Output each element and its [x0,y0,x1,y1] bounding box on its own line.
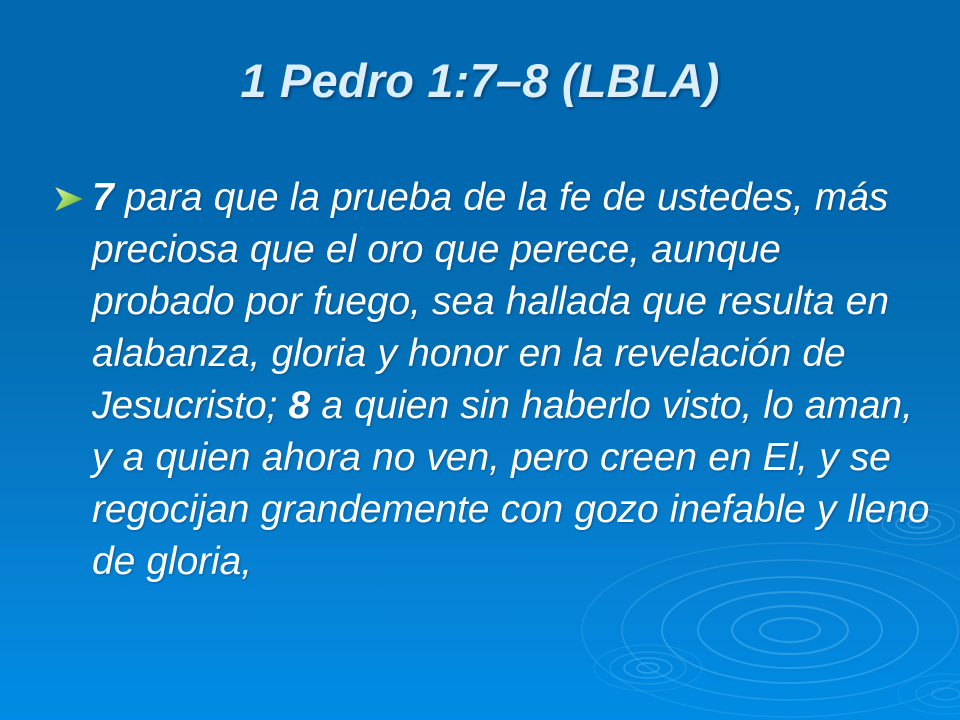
slide-title-container: 1 Pedro 1:7–8 (LBLA) [0,56,960,105]
page-title: 1 Pedro 1:7–8 (LBLA) [240,56,719,105]
slide-body: 7 para que la prueba de la fe de ustedes… [52,172,932,588]
arrow-bullet-icon [52,184,92,214]
verse-number-8: 8 [289,384,311,427]
presentation-slide: 1 Pedro 1:7–8 (LBLA) 7 para que la prueb… [0,0,960,720]
verse-body-text: 7 para que la prueba de la fe de ustedes… [92,172,932,588]
verse-number-7: 7 [92,176,114,219]
